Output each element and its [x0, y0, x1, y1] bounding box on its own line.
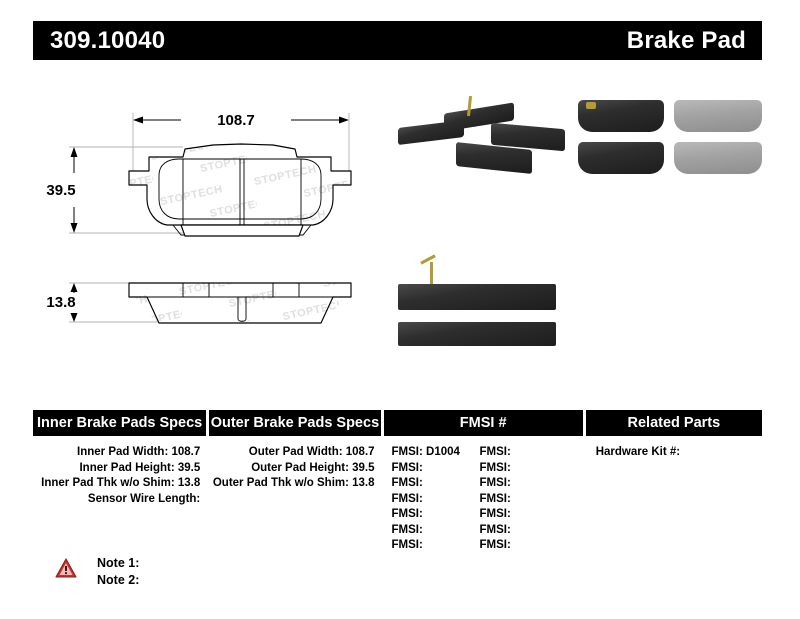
column-header-fmsi: FMSI # [384, 410, 583, 436]
pad-photo-top-friction-2 [674, 142, 762, 174]
column-fmsi: FMSI: D1004 FMSI: FMSI: FMSI: FMSI: FMSI… [384, 445, 583, 554]
spec-row: Inner Pad Thk w/o Shim: 13.8 [33, 476, 206, 492]
pad-photo-top-friction-1 [674, 100, 762, 132]
pad-photo-edge-2 [398, 322, 556, 346]
technical-drawing: STOPTECH STOPTECH 108.7 [33, 75, 393, 375]
fmsi-row: FMSI: [480, 492, 568, 508]
spec-row: Outer Pad Width: 108.7 [209, 445, 380, 461]
sensor-wire-edge [420, 254, 436, 264]
product-type-label: Brake Pad [627, 27, 746, 55]
pad-front-view [123, 135, 363, 236]
dimension-width-value: 108.7 [217, 112, 255, 129]
fmsi-row: FMSI: [480, 507, 568, 523]
fmsi-row: FMSI: [480, 461, 568, 477]
spec-row: Sensor Wire Length: [33, 492, 206, 508]
dimension-height-value: 39.5 [46, 182, 75, 199]
table-header-row: Inner Brake Pads Specs Outer Brake Pads … [33, 410, 762, 436]
fmsi-subcolumn-left: FMSI: D1004 FMSI: FMSI: FMSI: FMSI: FMSI… [392, 445, 480, 554]
fmsi-row: FMSI: [480, 523, 568, 539]
spec-row: Outer Pad Height: 39.5 [209, 461, 380, 477]
sensor-wire-topdown [586, 102, 596, 109]
fmsi-row: FMSI: [480, 445, 568, 461]
specifications-table: Inner Brake Pads Specs Outer Brake Pads … [33, 410, 762, 554]
fmsi-row: FMSI: [480, 476, 568, 492]
page-title: 309.10040 [50, 27, 165, 55]
fmsi-row: FMSI: [392, 492, 480, 508]
notes-text-block: Note 1: Note 2: [97, 555, 139, 589]
dimension-thickness-value: 13.8 [46, 294, 75, 311]
spec-row: Inner Pad Width: 108.7 [33, 445, 206, 461]
product-photo-angled-set [398, 96, 570, 182]
column-header-outer-specs: Outer Brake Pads Specs [209, 410, 380, 436]
fmsi-row: FMSI: [392, 476, 480, 492]
fmsi-row: FMSI: [392, 523, 480, 539]
fmsi-row: FMSI: D1004 [392, 445, 480, 461]
column-inner-specs: Inner Pad Width: 108.7 Inner Pad Height:… [33, 445, 206, 554]
fmsi-row: FMSI: [392, 507, 480, 523]
column-header-inner-specs: Inner Brake Pads Specs [33, 410, 206, 436]
fmsi-row: FMSI: [392, 538, 480, 554]
column-related-parts: Hardware Kit #: [586, 445, 762, 554]
note-line-1: Note 1: [97, 555, 139, 572]
pad-photo-top-backing-2 [578, 142, 664, 174]
warning-triangle-icon [55, 558, 77, 578]
column-outer-specs: Outer Pad Width: 108.7 Outer Pad Height:… [209, 445, 380, 554]
spec-row: Inner Pad Height: 39.5 [33, 461, 206, 477]
fmsi-row: FMSI: [480, 538, 568, 554]
column-header-related-parts: Related Parts [586, 410, 762, 436]
notes-section: Note 1: Note 2: [55, 555, 139, 589]
product-photo-topdown-set [578, 96, 762, 186]
table-body: Inner Pad Width: 108.7 Inner Pad Height:… [33, 436, 762, 554]
related-part-row: Hardware Kit #: [596, 445, 762, 461]
header-bar-product-type: Brake Pad [568, 21, 762, 60]
pad-photo-edge-1 [398, 284, 556, 310]
fmsi-subcolumn-right: FMSI: FMSI: FMSI: FMSI: FMSI: FMSI: FMSI… [480, 445, 568, 554]
fmsi-row: FMSI: [392, 461, 480, 477]
brake-pad-drawing-svg: STOPTECH STOPTECH 108.7 [33, 75, 393, 375]
sensor-wire-edge-stem [430, 262, 433, 284]
pad-side-view [129, 280, 355, 328]
note-line-2: Note 2: [97, 572, 139, 589]
product-photo-edge-set [398, 258, 558, 350]
spec-row: Outer Pad Thk w/o Shim: 13.8 [209, 476, 380, 492]
